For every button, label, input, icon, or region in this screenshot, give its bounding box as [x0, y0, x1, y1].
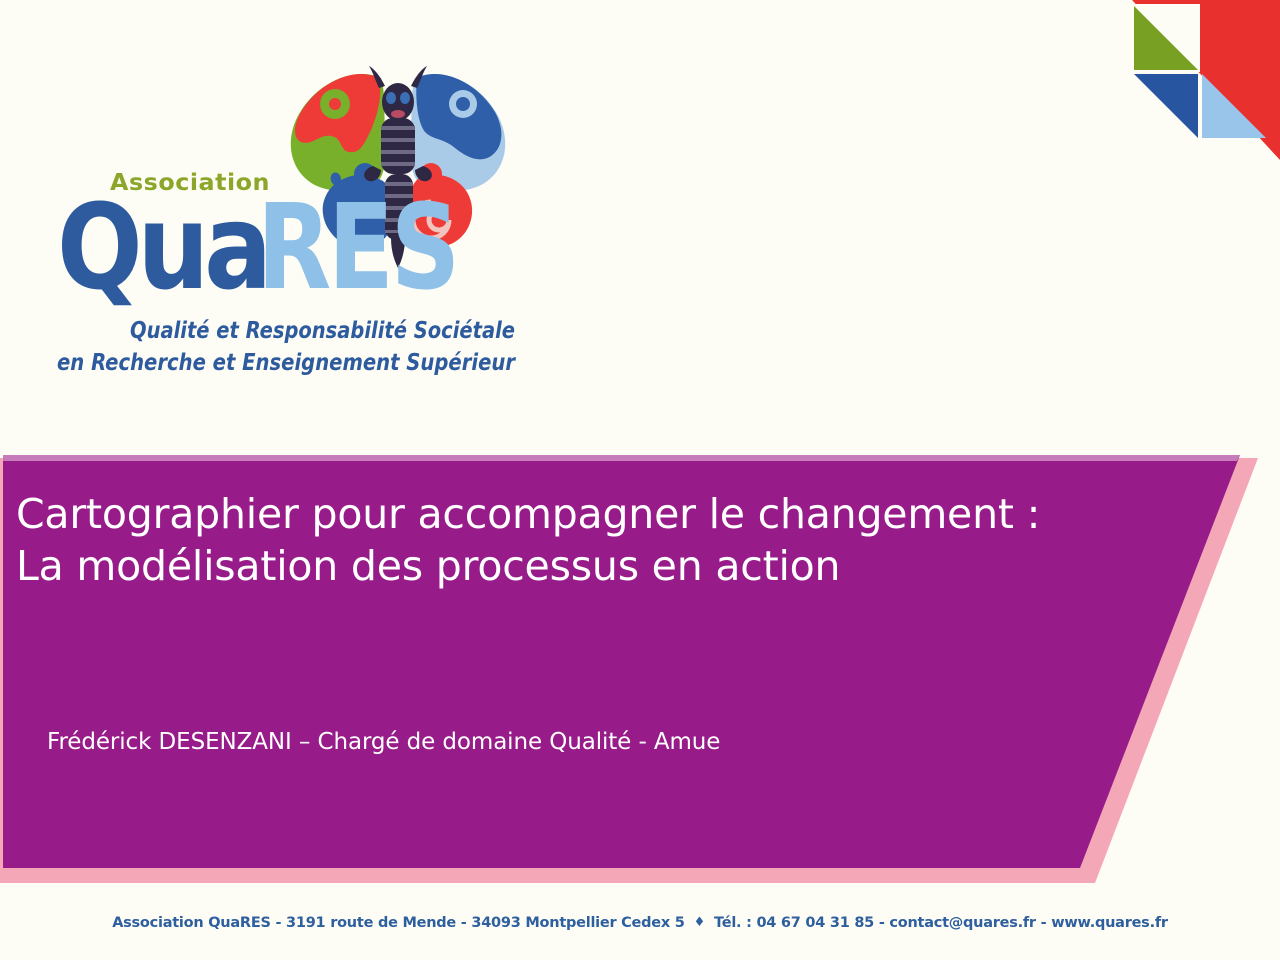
- corner-decoration: [1120, 0, 1280, 160]
- eye-left-icon: [386, 92, 396, 104]
- green-triangle-icon: [1134, 6, 1198, 70]
- wing-ring-center: [329, 98, 341, 110]
- footer-separator-icon: ♦: [685, 915, 714, 930]
- logo-tagline-line2: en Recherche et Enseignement Supérieur: [57, 350, 516, 376]
- slide-footer: Association QuaRES - 3191 route de Mende…: [0, 915, 1280, 931]
- page-title: Cartographier pour accompagner le change…: [16, 488, 1196, 592]
- green-cell-bg: [1132, 4, 1200, 72]
- wing-ring-center-blue: [456, 97, 470, 111]
- red-triangle-icon: [1132, 0, 1280, 160]
- footer-right-text: Tél. : 04 67 04 31 85 - contact@quares.f…: [714, 915, 1168, 931]
- light-blue-triangle-icon: [1202, 74, 1266, 138]
- logo-res-text: RES: [257, 178, 457, 316]
- banner-text-group: Cartographier pour accompagner le change…: [0, 455, 1060, 875]
- blue-cell-bg: [1134, 74, 1198, 138]
- author-subtitle: Frédérick DESENZANI – Chargé de domaine …: [47, 729, 720, 755]
- mouth-icon: [391, 110, 405, 118]
- green-cell-inner-bg: [1134, 6, 1198, 70]
- logo-qua-text: Qua: [57, 178, 267, 316]
- presentation-slide: Association Qua RES Qualité et Responsab…: [0, 0, 1280, 960]
- quares-wordmark: Association Qua RES Qualité et Responsab…: [55, 158, 535, 378]
- dark-blue-triangle-icon: [1134, 74, 1198, 138]
- logo-tagline-line1: Qualité et Responsabilité Sociétale: [130, 318, 515, 344]
- deco-seam: [1120, 0, 1280, 160]
- footer-left-text: Association QuaRES - 3191 route de Mende…: [112, 915, 684, 931]
- eye-right-icon: [400, 92, 410, 104]
- quares-logo: Association Qua RES Qualité et Responsab…: [55, 48, 535, 378]
